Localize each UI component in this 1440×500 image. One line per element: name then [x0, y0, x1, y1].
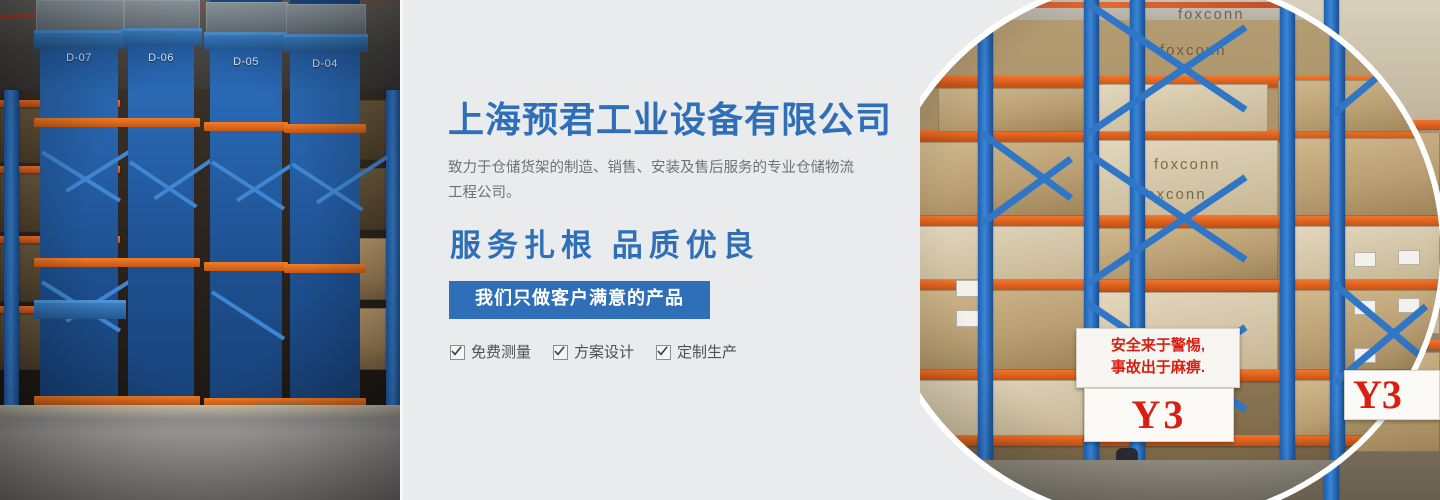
feature-item-free-measure: 免费测量: [450, 341, 531, 362]
check-box-icon: [450, 345, 465, 360]
check-box-icon: [553, 345, 568, 360]
cta-button[interactable]: 我们只做客户满意的产品: [449, 281, 710, 318]
photo-vignette: [0, 0, 400, 500]
feature-label: 方案设计: [574, 341, 634, 362]
feature-list: 免费测量 方案设计 定制生产: [450, 341, 908, 362]
panel-divider: [400, 0, 404, 500]
company-slogan: 服务扎根 品质优良: [450, 220, 908, 265]
feature-item-scheme-design: 方案设计: [553, 341, 634, 362]
photo-scene: foxconn foxconn foxconn foxconn: [920, 0, 1440, 500]
feature-item-custom-production: 定制生产: [656, 341, 737, 362]
banner-content: 上海预君工业设备有限公司 致力于仓储货架的制造、销售、安装及售后服务的专业仓储物…: [448, 100, 908, 362]
right-photo-wrapper: foxconn foxconn foxconn foxconn: [920, 0, 1440, 500]
aisle-sign-y3-right: Y3: [1344, 370, 1440, 420]
left-warehouse-photo: D-07 D-06 D-05: [0, 0, 400, 500]
feature-label: 免费测量: [471, 341, 531, 362]
feature-label: 定制生产: [677, 341, 737, 362]
circular-warehouse-photo: foxconn foxconn foxconn foxconn: [920, 0, 1440, 500]
hero-banner: D-07 D-06 D-05: [0, 0, 1440, 500]
company-title: 上海预君工业设备有限公司: [448, 100, 908, 140]
company-description: 致力于仓储货架的制造、销售、安装及售后服务的专业仓储物流工程公司。: [448, 156, 868, 207]
check-box-icon: [656, 345, 671, 360]
photo-vignette: [920, 0, 1440, 500]
